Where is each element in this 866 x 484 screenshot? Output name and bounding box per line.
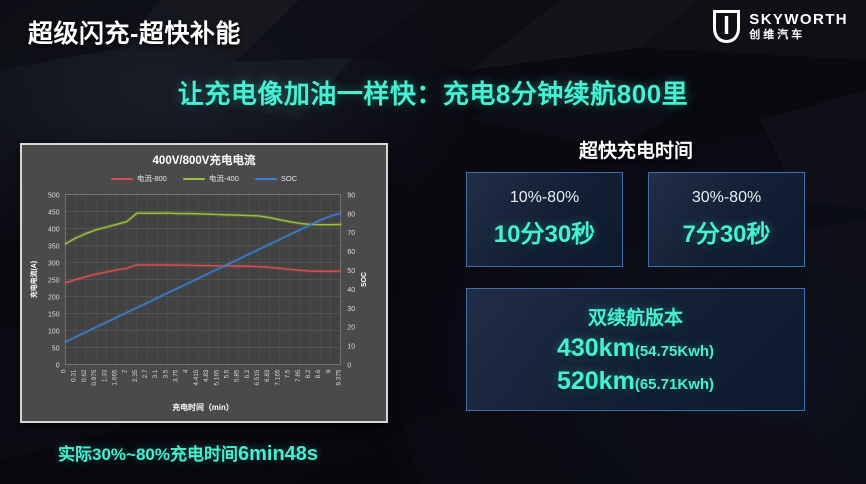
svg-text:9: 9 [325,369,332,373]
svg-text:0.62: 0.62 [81,369,88,382]
charge-time-card-10-80: 10%-80% 10分30秒 [466,172,623,267]
svg-text:7.165: 7.165 [274,369,281,385]
svg-text:0: 0 [61,369,68,373]
svg-text:5.165: 5.165 [213,369,220,385]
footnote-value: 6min48s [238,443,318,465]
page-subtitle: 让充电像加油一样快：充电8分钟续航800里 [0,74,866,111]
fast-charge-section-title: 超快充电时间 [466,136,806,163]
charge-time-value: 10分30秒 [467,214,622,249]
svg-text:SOC: SOC [361,272,368,287]
brand-logo-text: SKYWORTH 创维汽车 [749,12,848,41]
dual-range-title: 双续航版本 [467,303,804,330]
svg-text:9.375: 9.375 [335,369,342,385]
svg-text:0: 0 [347,363,351,370]
svg-text:3.1: 3.1 [152,369,159,378]
svg-text:充电时间（min）: 充电时间（min） [172,402,234,412]
svg-text:0: 0 [56,363,60,370]
page-title: 超级闪充-超快补能 [28,14,241,50]
svg-text:250: 250 [48,277,60,284]
range-kwh: (54.75Kwh) [635,343,714,360]
svg-text:8.6: 8.6 [315,369,322,378]
range-row: 430km(54.75Kwh) [467,334,804,363]
svg-text:400: 400 [48,226,60,233]
svg-text:2.7: 2.7 [142,369,149,378]
svg-text:40: 40 [347,287,355,294]
svg-text:3.5: 3.5 [162,369,169,378]
svg-text:50: 50 [52,346,60,353]
skyworth-u-shield-icon [713,10,740,43]
svg-text:1.665: 1.665 [111,369,118,385]
svg-text:60: 60 [347,249,355,256]
brand-logo: SKYWORTH 创维汽车 [713,10,848,43]
range-km: 520km [557,367,635,395]
chart-plot-area: 0501001502002503003504004505000102030405… [22,145,386,421]
charge-time-card-30-80: 30%-80% 7分30秒 [648,172,805,267]
svg-text:7.5: 7.5 [285,369,292,378]
charge-range-label: 30%-80% [649,189,804,207]
svg-text:5.5: 5.5 [223,369,230,378]
svg-text:3.75: 3.75 [173,369,180,382]
svg-text:5.85: 5.85 [234,369,241,382]
svg-text:0.31: 0.31 [71,369,78,382]
svg-text:80: 80 [347,211,355,218]
svg-text:充电电流(A): 充电电流(A) [29,261,38,298]
svg-text:20: 20 [347,325,355,332]
svg-text:4.83: 4.83 [203,369,210,382]
brand-name-en: SKYWORTH [749,12,848,27]
svg-text:30: 30 [347,306,355,313]
range-kwh: (65.71Kwh) [635,376,714,393]
dual-range-version-card: 双续航版本 430km(54.75Kwh) 520km(65.71Kwh) [466,288,805,411]
charge-time-value: 7分30秒 [649,214,804,249]
svg-text:6.83: 6.83 [264,369,271,382]
svg-text:200: 200 [48,294,60,301]
svg-text:300: 300 [48,260,60,267]
svg-text:7.85: 7.85 [295,369,302,382]
svg-text:8.2: 8.2 [305,369,312,378]
slide-root: 超级闪充-超快补能 SKYWORTH 创维汽车 让充电像加油一样快：充电8分钟续… [0,0,866,484]
footnote-prefix: 实际30%~80%充电时间 [58,445,238,464]
svg-text:6.2: 6.2 [244,369,251,378]
svg-text:6.515: 6.515 [254,369,261,385]
charging-current-chart: 400V/800V充电电流 电流-800 电流-400 SOC 05010015… [20,143,388,423]
svg-text:150: 150 [48,312,60,319]
svg-text:450: 450 [48,209,60,216]
svg-text:4.415: 4.415 [193,369,200,385]
svg-text:350: 350 [48,243,60,250]
svg-text:1.33: 1.33 [101,369,108,382]
svg-text:100: 100 [48,329,60,336]
svg-text:500: 500 [48,192,60,199]
actual-charge-time-footnote: 实际30%~80%充电时间6min48s [58,440,318,466]
svg-text:70: 70 [347,230,355,237]
svg-text:90: 90 [347,192,355,199]
svg-text:0.975: 0.975 [91,369,98,385]
brand-name-cn: 创维汽车 [749,30,848,41]
charge-range-label: 10%-80% [467,189,622,207]
range-row: 520km(65.71Kwh) [467,367,804,396]
svg-text:2: 2 [122,369,129,373]
svg-text:10: 10 [347,344,355,351]
svg-text:4: 4 [183,369,190,373]
range-km: 430km [557,334,635,362]
svg-text:2.35: 2.35 [132,369,139,382]
svg-text:50: 50 [347,268,355,275]
